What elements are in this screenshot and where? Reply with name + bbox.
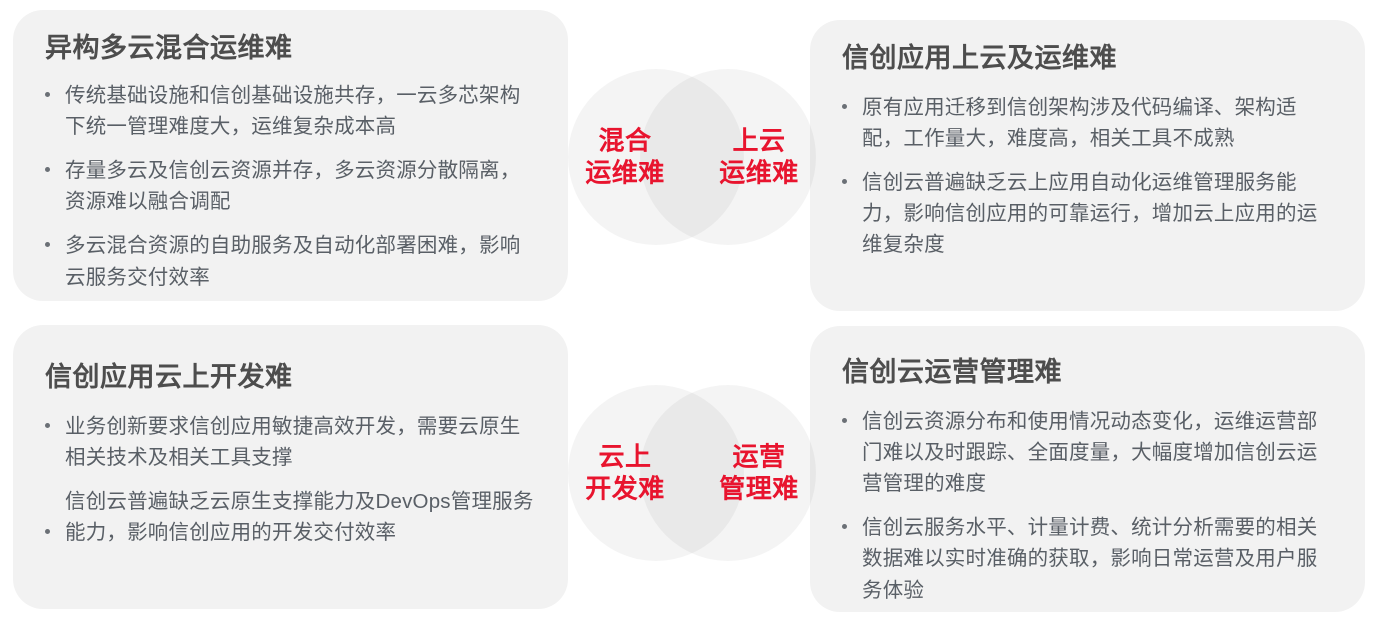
card-heterogeneous-multicloud-ops: 异构多云混合运维难 传统基础设施和信创基础设施共存，一云多芯架构下统一管理难度大… — [13, 10, 568, 301]
card-xinchuang-app-cloud-development: 信创应用云上开发难 业务创新要求信创应用敏捷高效开发，需要云原生相关技术及相关工… — [13, 325, 568, 609]
bullet-dot-icon — [842, 179, 847, 184]
bullet-dot-icon — [45, 167, 50, 172]
list-item: 业务创新要求信创应用敏捷高效开发，需要云原生相关技术及相关工具支撑 — [43, 411, 538, 473]
bullet-dot-icon — [45, 423, 50, 428]
card-title: 信创应用云上开发难 — [45, 361, 538, 395]
list-item: 信创云服务水平、计量计费、统计分析需要的相关数据难以实时准确的获取，影响日常运营… — [840, 512, 1335, 605]
list-item: 存量多云及信创云资源并存，多云资源分散隔离，资源难以融合调配 — [43, 155, 538, 217]
list-item-text: 原有应用迁移到信创架构涉及代码编译、架构适配，工作量大，难度高，相关工具不成熟 — [862, 96, 1297, 150]
list-item-text: 传统基础设施和信创基础设施共存，一云多芯架构下统一管理难度大，运维复杂成本高 — [65, 84, 520, 138]
bullet-dot-icon — [842, 418, 847, 423]
venn-diagram-top: 混合 运维难 上云 运维难 — [568, 69, 816, 245]
list-item-text: 信创云普遍缺乏云原生支撑能力及DevOps管理服务能力，影响信创应用的开发交付效… — [65, 490, 534, 544]
venn-diagram-bottom: 云上 开发难 运营 管理难 — [568, 385, 816, 561]
bullet-dot-icon — [45, 92, 50, 97]
bullet-dot-icon — [45, 242, 50, 247]
list-item-text: 业务创新要求信创应用敏捷高效开发，需要云原生相关技术及相关工具支撑 — [65, 415, 520, 469]
card-xinchuang-cloud-operations-management: 信创云运营管理难 信创云资源分布和使用情况动态变化，运维运营部门难以及时跟踪、全… — [810, 326, 1365, 612]
list-item: 信创云资源分布和使用情况动态变化，运维运营部门难以及时跟踪、全面度量，大幅度增加… — [840, 406, 1335, 499]
bullet-list: 信创云资源分布和使用情况动态变化，运维运营部门难以及时跟踪、全面度量，大幅度增加… — [840, 406, 1335, 606]
bullet-dot-icon — [842, 524, 847, 529]
card-title: 信创云运营管理难 — [842, 356, 1335, 390]
venn-label-cloud-development: 云上 开发难 — [566, 441, 684, 504]
venn-label-cloud-migration-ops: 上云 运维难 — [700, 125, 818, 188]
bullet-list: 原有应用迁移到信创架构涉及代码编译、架构适配，工作量大，难度高，相关工具不成熟 … — [840, 92, 1335, 261]
venn-label-hybrid-ops: 混合 运维难 — [566, 125, 684, 188]
card-title: 信创应用上云及运维难 — [842, 42, 1335, 76]
bullet-dot-icon — [842, 104, 847, 109]
list-item: 多云混合资源的自助服务及自动化部署困难，影响云服务交付效率 — [43, 230, 538, 292]
list-item-text: 多云混合资源的自助服务及自动化部署困难，影响云服务交付效率 — [65, 234, 520, 288]
diagram-canvas: 异构多云混合运维难 传统基础设施和信创基础设施共存，一云多芯架构下统一管理难度大… — [0, 0, 1378, 620]
list-item-text: 信创云资源分布和使用情况动态变化，运维运营部门难以及时跟踪、全面度量，大幅度增加… — [862, 410, 1317, 495]
bullet-list: 传统基础设施和信创基础设施共存，一云多芯架构下统一管理难度大，运维复杂成本高 存… — [43, 80, 538, 293]
list-item-text: 存量多云及信创云资源并存，多云资源分散隔离，资源难以融合调配 — [65, 159, 520, 213]
list-item-text: 信创云服务水平、计量计费、统计分析需要的相关数据难以实时准确的获取，影响日常运营… — [862, 516, 1317, 601]
list-item: 信创云普遍缺乏云原生支撑能力及DevOps管理服务能力，影响信创应用的开发交付效… — [43, 486, 538, 548]
list-item: 原有应用迁移到信创架构涉及代码编译、架构适配，工作量大，难度高，相关工具不成熟 — [840, 92, 1335, 154]
card-xinchuang-app-cloud-migration-ops: 信创应用上云及运维难 原有应用迁移到信创架构涉及代码编译、架构适配，工作量大，难… — [810, 20, 1365, 311]
list-item-text: 信创云普遍缺乏云上应用自动化运维管理服务能力，影响信创应用的可靠运行，增加云上应… — [862, 171, 1317, 256]
bullet-list: 业务创新要求信创应用敏捷高效开发，需要云原生相关技术及相关工具支撑 信创云普遍缺… — [43, 411, 538, 549]
venn-label-operations-management: 运营 管理难 — [700, 441, 818, 504]
list-item: 传统基础设施和信创基础设施共存，一云多芯架构下统一管理难度大，运维复杂成本高 — [43, 80, 538, 142]
list-item: 信创云普遍缺乏云上应用自动化运维管理服务能力，影响信创应用的可靠运行，增加云上应… — [840, 167, 1335, 260]
card-title: 异构多云混合运维难 — [45, 32, 538, 66]
bullet-dot-icon — [45, 529, 50, 534]
